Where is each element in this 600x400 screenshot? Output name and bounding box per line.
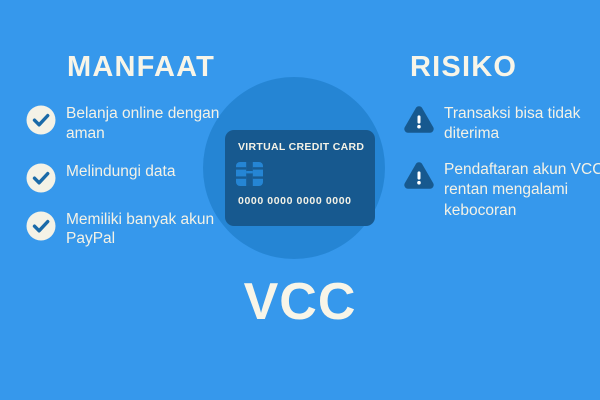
list-item: Transaksi bisa tidak diterima <box>404 104 600 144</box>
benefit-text: Melindungi data <box>66 162 175 182</box>
chip-icon <box>236 162 263 186</box>
list-item: Melindungi data <box>26 162 226 192</box>
warning-triangle-icon <box>404 161 434 191</box>
list-item: Pendaftaran akun VCC rentan mengalami ke… <box>404 160 600 220</box>
risk-text: Transaksi bisa tidak diterima <box>444 104 600 144</box>
check-circle-icon <box>26 163 56 193</box>
list-item: Belanja online dengan aman <box>26 104 226 144</box>
benefit-text: Belanja online dengan aman <box>66 104 226 144</box>
warning-triangle-icon <box>404 105 434 135</box>
card-number: 0000 0000 0000 0000 <box>238 196 352 207</box>
risks-heading: RISIKO <box>410 53 517 82</box>
vcc-infographic: VIRTUAL CREDIT CARD 0000 0000 0000 0000 … <box>0 0 600 400</box>
list-item: Memiliki banyak akun PayPal <box>26 210 226 250</box>
vcc-wordmark: VCC <box>0 276 600 328</box>
check-circle-icon <box>26 105 56 135</box>
risk-text: Pendaftaran akun VCC rentan mengalami ke… <box>444 160 600 220</box>
risks-list: Transaksi bisa tidak diterima Pendaftara… <box>404 104 600 237</box>
benefit-text: Memiliki banyak akun PayPal <box>66 210 226 250</box>
check-circle-icon <box>26 211 56 241</box>
card-title: VIRTUAL CREDIT CARD <box>238 142 362 153</box>
benefits-list: Belanja online dengan aman Melindungi da… <box>26 104 226 267</box>
benefits-heading: MANFAAT <box>67 53 215 82</box>
